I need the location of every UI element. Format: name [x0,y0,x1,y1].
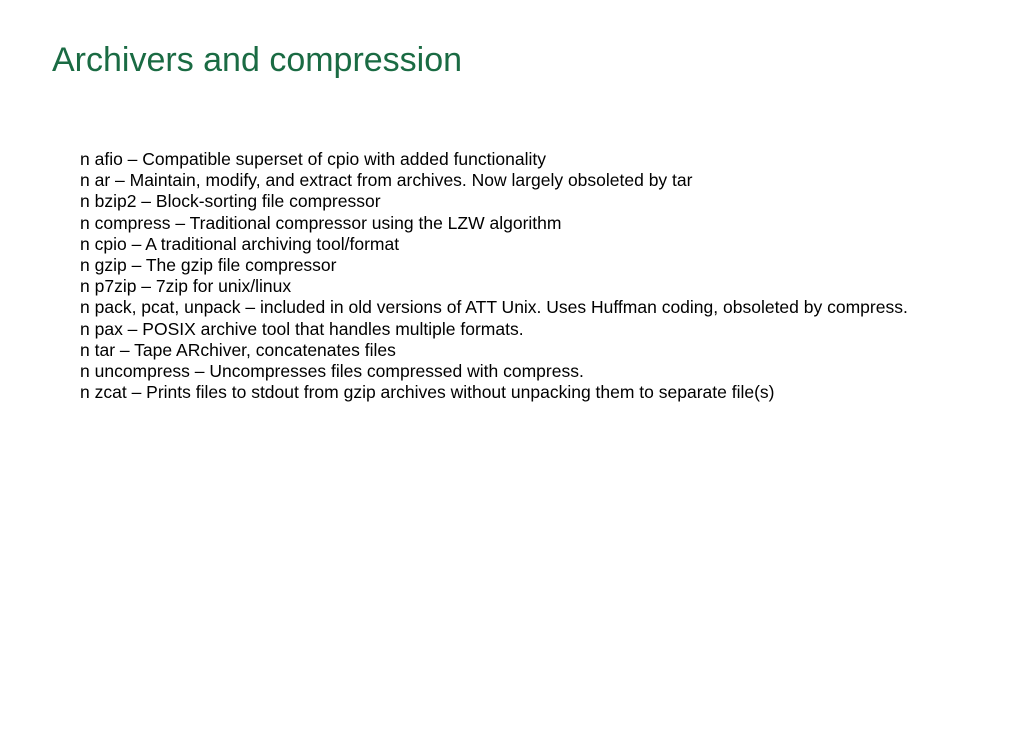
list-item-label: afio – Compatible superset of cpio with … [95,149,546,169]
list-item: n pax – POSIX archive tool that handles … [62,319,962,340]
bullet-glyph-icon: n [80,319,90,339]
bullet-glyph-icon: n [80,213,90,233]
bullet-glyph-icon: n [80,255,90,275]
list-item: n p7zip – 7zip for unix/linux [62,276,962,297]
bullet-glyph-icon: n [80,340,90,360]
list-item-label: gzip – The gzip file compressor [95,255,337,275]
list-item: n pack, pcat, unpack – included in old v… [62,297,962,318]
bullet-glyph-icon: n [80,149,90,169]
bullet-glyph-icon: n [80,276,90,296]
list-item: n cpio – A traditional archiving tool/fo… [62,234,962,255]
list-item-label: compress – Traditional compressor using … [95,213,562,233]
page-title: Archivers and compression [52,39,462,81]
bullet-glyph-icon: n [80,361,90,381]
slide-canvas: Archivers and compression n afio – Compa… [0,0,1024,748]
list-item-label: p7zip – 7zip for unix/linux [95,276,292,296]
content-list: n afio – Compatible superset of cpio wit… [62,149,962,403]
list-item: n afio – Compatible superset of cpio wit… [62,149,962,170]
bullet-glyph-icon: n [80,170,90,190]
list-item-label: cpio – A traditional archiving tool/form… [95,234,399,254]
list-item-label: bzip2 – Block-sorting file compressor [95,191,381,211]
bullet-glyph-icon: n [80,191,90,211]
bullet-glyph-icon: n [80,234,90,254]
list-item-label: uncompress – Uncompresses files compress… [95,361,584,381]
list-item: n gzip – The gzip file compressor [62,255,962,276]
list-item: n uncompress – Uncompresses files compre… [62,361,962,382]
list-item: n bzip2 – Block-sorting file compressor [62,191,962,212]
list-item-label: pack, pcat, unpack – included in old ver… [95,297,908,317]
bullet-glyph-icon: n [80,382,90,402]
bullet-glyph-icon: n [80,297,90,317]
list-item: n zcat – Prints files to stdout from gzi… [62,382,962,403]
list-item: n compress – Traditional compressor usin… [62,213,962,234]
list-item-label: zcat – Prints files to stdout from gzip … [95,382,775,402]
list-item: n tar – Tape ARchiver, concatenates file… [62,340,962,361]
list-item: n ar – Maintain, modify, and extract fro… [62,170,962,191]
list-item-label: tar – Tape ARchiver, concatenates files [95,340,396,360]
list-item-label: ar – Maintain, modify, and extract from … [95,170,693,190]
list-item-label: pax – POSIX archive tool that handles mu… [95,319,524,339]
